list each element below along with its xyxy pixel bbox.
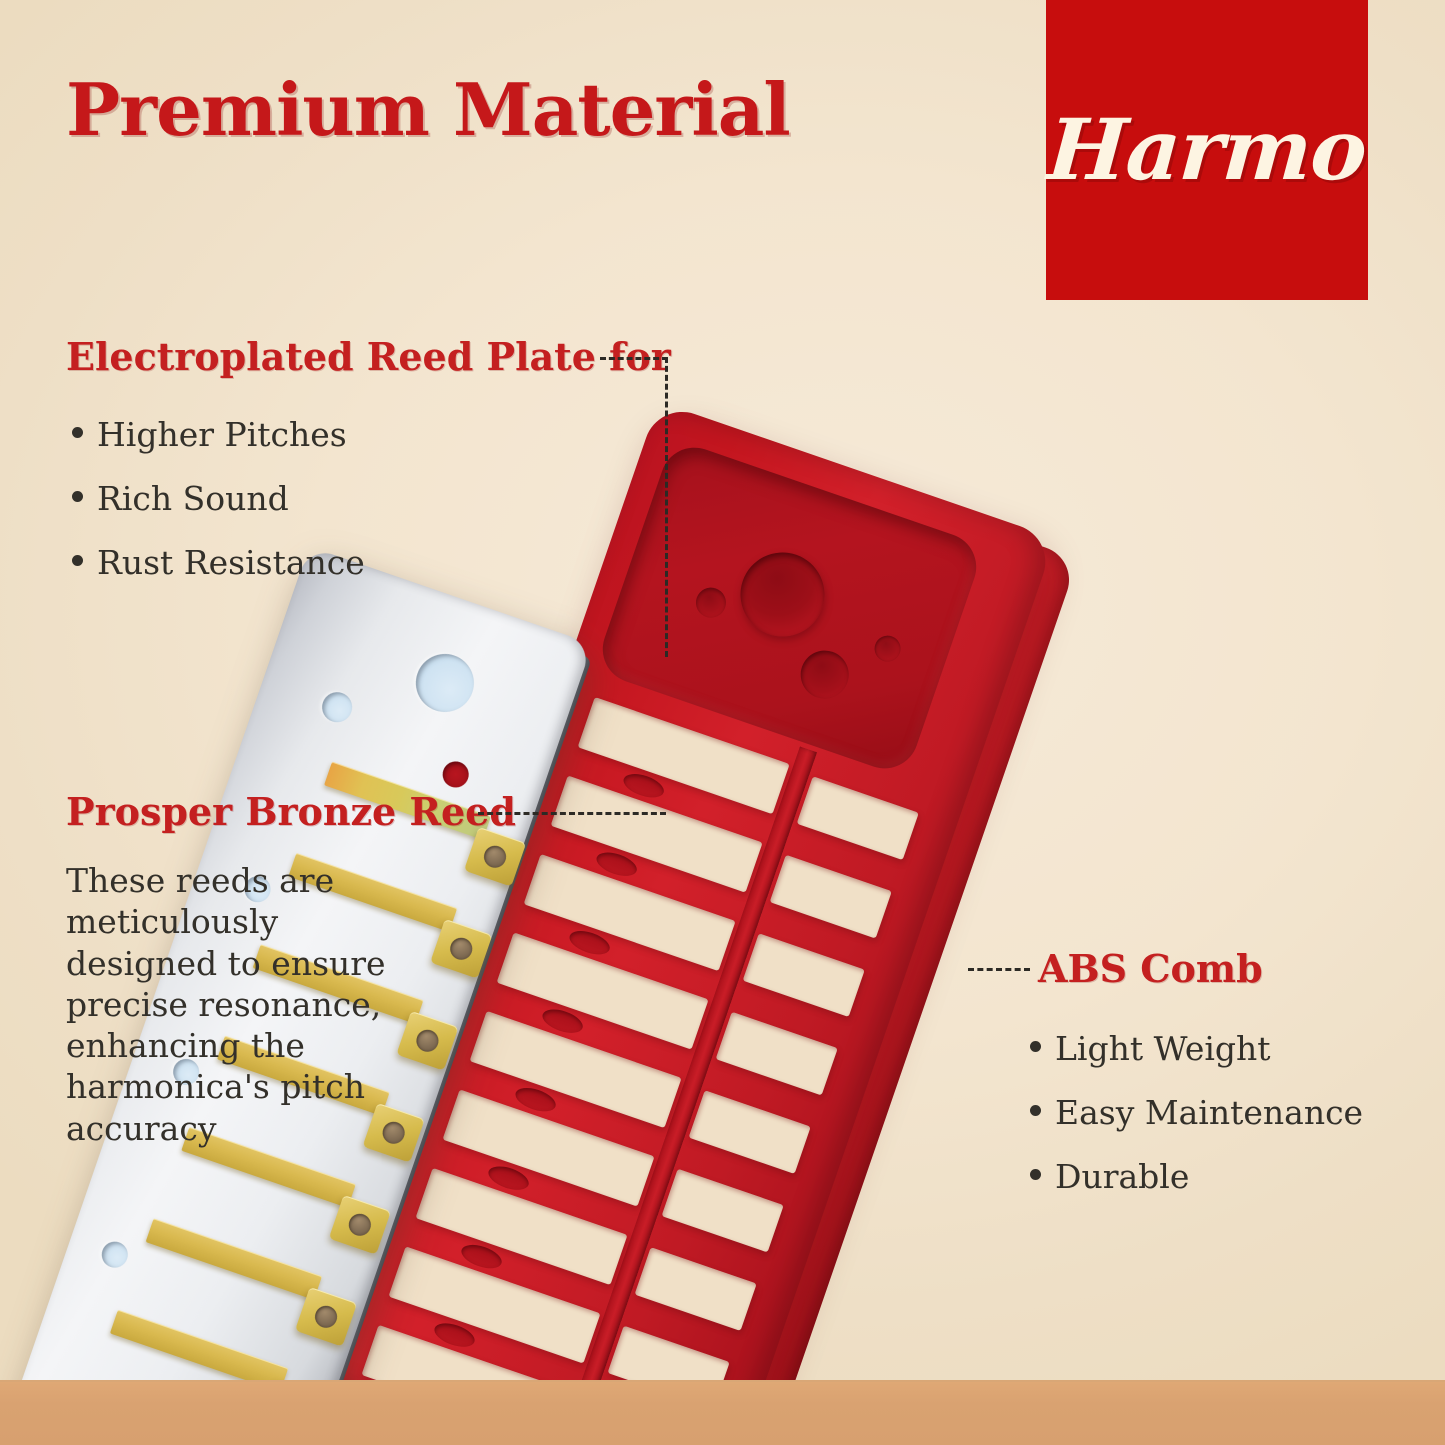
comb-screw-post-small bbox=[692, 584, 730, 622]
comb-slot-left bbox=[416, 1168, 628, 1285]
floor-band bbox=[0, 1380, 1445, 1445]
comb-molding-nub bbox=[540, 1005, 586, 1038]
reed-plate-vent-hole bbox=[439, 758, 472, 791]
comb-top-recess bbox=[594, 438, 986, 777]
comb-center-rail bbox=[556, 746, 817, 1445]
comb-screw-post-large bbox=[729, 541, 836, 648]
brand-logo-text: Harmo bbox=[1045, 108, 1369, 192]
comb-slot-right bbox=[770, 855, 892, 939]
list-item: Easy Maintenance bbox=[1030, 1096, 1363, 1129]
bullet-label: Rich Sound bbox=[97, 482, 289, 515]
bullet-dot-icon bbox=[1030, 1105, 1041, 1116]
comb-molding-nub bbox=[621, 769, 667, 802]
paragraph-bronze-reed: These reeds are meticulously designed to… bbox=[66, 860, 396, 1149]
leader-line-abs-comb bbox=[968, 968, 1030, 971]
comb-slot-right bbox=[635, 1247, 757, 1331]
bullet-label: Easy Maintenance bbox=[1055, 1096, 1363, 1129]
comb-slot-left bbox=[388, 1246, 600, 1363]
leader-line-bronze-reed bbox=[478, 812, 666, 815]
comb-molding-nub bbox=[431, 1319, 477, 1352]
bullet-dot-icon bbox=[72, 555, 83, 566]
comb-slot-right bbox=[797, 776, 919, 860]
abs-comb-part bbox=[323, 402, 1103, 1445]
reed-rivet bbox=[430, 919, 492, 979]
bullet-dot-icon bbox=[72, 491, 83, 502]
comb-slot-right bbox=[689, 1090, 811, 1174]
list-item: Light Weight bbox=[1030, 1032, 1363, 1065]
comb-slot-left bbox=[524, 854, 736, 971]
list-item: Durable bbox=[1030, 1160, 1363, 1193]
rivet-pin bbox=[312, 1303, 340, 1331]
bullet-dot-icon bbox=[72, 427, 83, 438]
comb-screw-post-tiny bbox=[871, 632, 904, 665]
bullet-dot-icon bbox=[1030, 1041, 1041, 1052]
comb-slot-right bbox=[716, 1012, 838, 1096]
comb-slot-right bbox=[662, 1169, 784, 1253]
reed-plate-screw-hole-large bbox=[408, 646, 482, 720]
brand-logo-box: Harmo bbox=[1046, 0, 1368, 300]
reed-plate-screw-hole bbox=[98, 1238, 131, 1271]
page-title: Premium Material bbox=[66, 74, 790, 146]
comb-molding-nub bbox=[485, 1162, 531, 1195]
leader-line-reed-plate-horizontal bbox=[600, 357, 668, 360]
reed-rivet bbox=[396, 1011, 458, 1071]
list-item: Rust Resistance bbox=[72, 546, 365, 579]
rivet-pin bbox=[481, 843, 509, 871]
comb-outer-rim bbox=[662, 528, 1078, 1445]
bullet-list-reed-plate: Higher Pitches Rich Sound Rust Resistanc… bbox=[72, 418, 365, 610]
comb-slot-left bbox=[497, 932, 709, 1049]
comb-slot-left bbox=[443, 1089, 655, 1206]
comb-slot-right bbox=[743, 933, 865, 1017]
comb-screw-post-mid bbox=[794, 644, 855, 705]
bronze-reed bbox=[146, 1218, 322, 1300]
comb-slot-left bbox=[551, 775, 763, 892]
comb-body bbox=[323, 402, 1055, 1445]
list-item: Rich Sound bbox=[72, 482, 365, 515]
rivet-pin bbox=[413, 1027, 441, 1055]
comb-slot-left bbox=[578, 697, 790, 814]
heading-abs-comb: ABS Comb bbox=[1038, 950, 1263, 988]
bullet-label: Higher Pitches bbox=[97, 418, 347, 451]
list-item: Higher Pitches bbox=[72, 418, 365, 451]
comb-molding-nub bbox=[567, 926, 613, 959]
reed-rivet bbox=[329, 1195, 391, 1255]
bullet-label: Durable bbox=[1055, 1160, 1189, 1193]
reed-rivet bbox=[464, 827, 526, 887]
bullet-list-abs-comb: Light Weight Easy Maintenance Durable bbox=[1030, 1032, 1363, 1224]
comb-slot-left bbox=[470, 1011, 682, 1128]
bullet-label: Light Weight bbox=[1055, 1032, 1271, 1065]
reed-plate-screw-hole-small bbox=[318, 688, 356, 726]
rivet-pin bbox=[346, 1211, 374, 1239]
heading-prosper-bronze-reed: Prosper Bronze Reed bbox=[66, 793, 516, 831]
rivet-pin bbox=[447, 935, 475, 963]
comb-molding-nub bbox=[458, 1240, 504, 1273]
leader-line-reed-plate-vertical bbox=[665, 357, 668, 657]
heading-electroplated-reed-plate: Electroplated Reed Plate for bbox=[66, 338, 671, 376]
infographic-canvas: Premium Material Harmo Electroplated Ree… bbox=[0, 0, 1445, 1445]
bullet-label: Rust Resistance bbox=[97, 546, 365, 579]
comb-molding-nub bbox=[512, 1083, 558, 1116]
reed-rivet bbox=[295, 1287, 357, 1347]
comb-molding-nub bbox=[594, 848, 640, 881]
bullet-dot-icon bbox=[1030, 1169, 1041, 1180]
